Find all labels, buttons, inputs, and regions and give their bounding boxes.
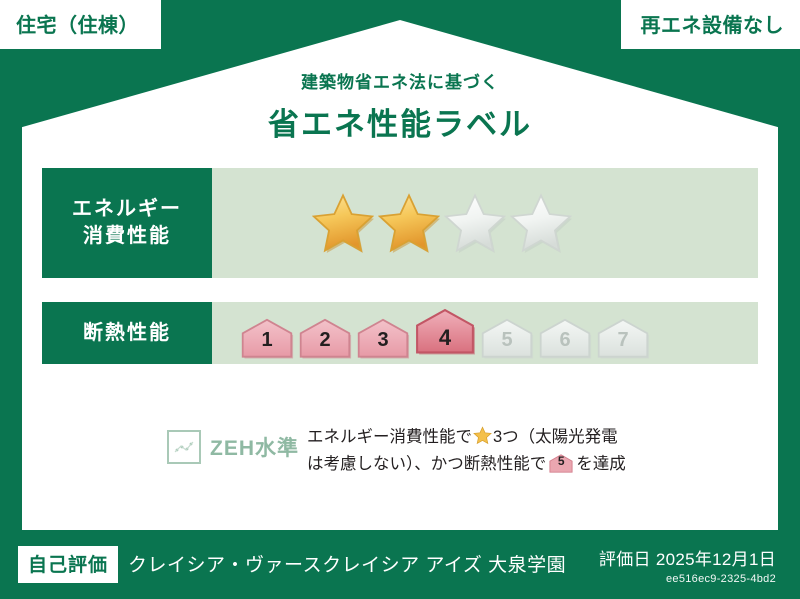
energy-label-line1: エネルギー [72,196,182,223]
inline-star-icon [473,426,492,445]
zeh-desc-2b: を達成 [576,455,626,473]
zeh-description-line1: エネルギー消費性能で 3つ（太陽光発電 [307,424,758,451]
star-rating [312,192,572,254]
energy-performance-label-cell: エネルギー 消費性能 [42,168,212,278]
evaluation-date: 評価日 2025年12月1日 [599,545,776,570]
zeh-logo: ZEH水準 [42,418,299,464]
insulation-badge-number: 5 [501,329,512,358]
star-empty-icon [510,192,572,254]
insulation-badge-number: 1 [261,329,272,358]
insulation-badge-current: 4 [414,308,476,358]
zeh-desc-2a: は考慮しない）、かつ断熱性能で [307,455,546,473]
energy-performance-panel [212,168,758,278]
title-block: 建築物省エネ法に基づく 省エネ性能ラベル [0,68,800,144]
star-empty-icon [444,192,506,254]
zeh-description: エネルギー消費性能で 3つ（太陽光発電 は考慮しない）、かつ断熱性能で 5 を達… [299,418,758,477]
renewable-energy-tag-label: 再エネ設備なし [641,15,785,37]
insulation-level-scale: 1234567 [240,308,650,358]
zeh-mark-label: ZEH水準 [210,432,299,462]
building-type-tag: 住宅（住棟） [0,0,161,49]
zeh-desc-1b: 3つ（太陽光発電 [493,428,618,446]
footer-bar: 自己評価 クレイシア・ヴァースクレイシア アイズ 大泉学園 評価日 2025年1… [0,530,800,599]
insulation-label: 断熱性能 [83,320,171,347]
evaluation-id: ee516ec9-2325-4bd2 [599,573,776,585]
inline-badge-number: 5 [549,454,573,473]
insulation-badge-number: 6 [559,329,570,358]
zeh-desc-1a: エネルギー消費性能で [307,428,472,446]
zeh-description-line2: は考慮しない）、かつ断熱性能で 5 を達成 [307,451,758,478]
insulation-badge-inactive: 6 [538,318,592,358]
renewable-energy-tag: 再エネ設備なし [621,0,800,49]
insulation-badge-number: 2 [319,329,330,358]
insulation-performance-row: 断熱性能 1234567 [42,302,758,364]
insulation-badge-inactive: 5 [480,318,534,358]
insulation-badge-active: 3 [356,318,410,358]
energy-label-line2: 消費性能 [83,223,171,250]
insulation-performance-panel: 1234567 [212,302,758,364]
footer-right-block: 評価日 2025年12月1日 ee516ec9-2325-4bd2 [599,545,782,585]
energy-performance-row: エネルギー 消費性能 [42,168,758,278]
self-evaluation-badge: 自己評価 [18,546,118,583]
page-title: 省エネ性能ラベル [0,99,800,144]
building-name: クレイシア・ヴァースクレイシア アイズ 大泉学園 [128,550,566,579]
insulation-badge-number: 4 [439,325,451,358]
star-filled-icon [378,192,440,254]
insulation-badge-active: 2 [298,318,352,358]
building-type-tag-label: 住宅（住棟） [16,15,139,37]
insulation-badge-number: 7 [617,329,628,358]
insulation-badge-inactive: 7 [596,318,650,358]
insulation-badge-number: 3 [377,329,388,358]
inline-insulation-badge-icon: 5 [549,454,573,473]
energy-performance-label: 住宅（住棟） 再エネ設備なし 建築物省エネ法に基づく 省エネ性能ラベル エネルギ… [0,0,800,599]
star-filled-icon [312,192,374,254]
title-subtitle: 建築物省エネ法に基づく [0,68,800,93]
zeh-standard-section: ZEH水準 エネルギー消費性能で 3つ（太陽光発電 は考慮しない）、かつ断熱性能… [42,418,758,477]
zeh-mark-icon [167,430,201,464]
insulation-badge-active: 1 [240,318,294,358]
insulation-performance-label-cell: 断熱性能 [42,302,212,364]
